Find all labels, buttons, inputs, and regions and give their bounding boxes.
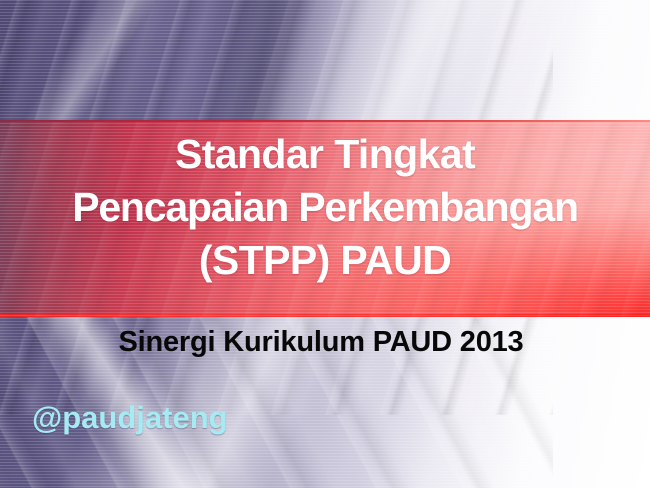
title-line-1: Standar Tingkat [0,128,650,181]
banner-top-edge [0,120,650,122]
title-line-3: (STPP) PAUD [0,234,650,287]
slide-subtitle: Sinergi Kurikulum PAUD 2013 [0,326,650,359]
title-line-2: Pencapaian Perkembangan [0,181,650,234]
social-handle: @paudjateng [32,400,228,436]
presentation-slide: Standar Tingkat Pencapaian Perkembangan … [0,0,650,488]
slide-title: Standar Tingkat Pencapaian Perkembangan … [0,128,650,287]
